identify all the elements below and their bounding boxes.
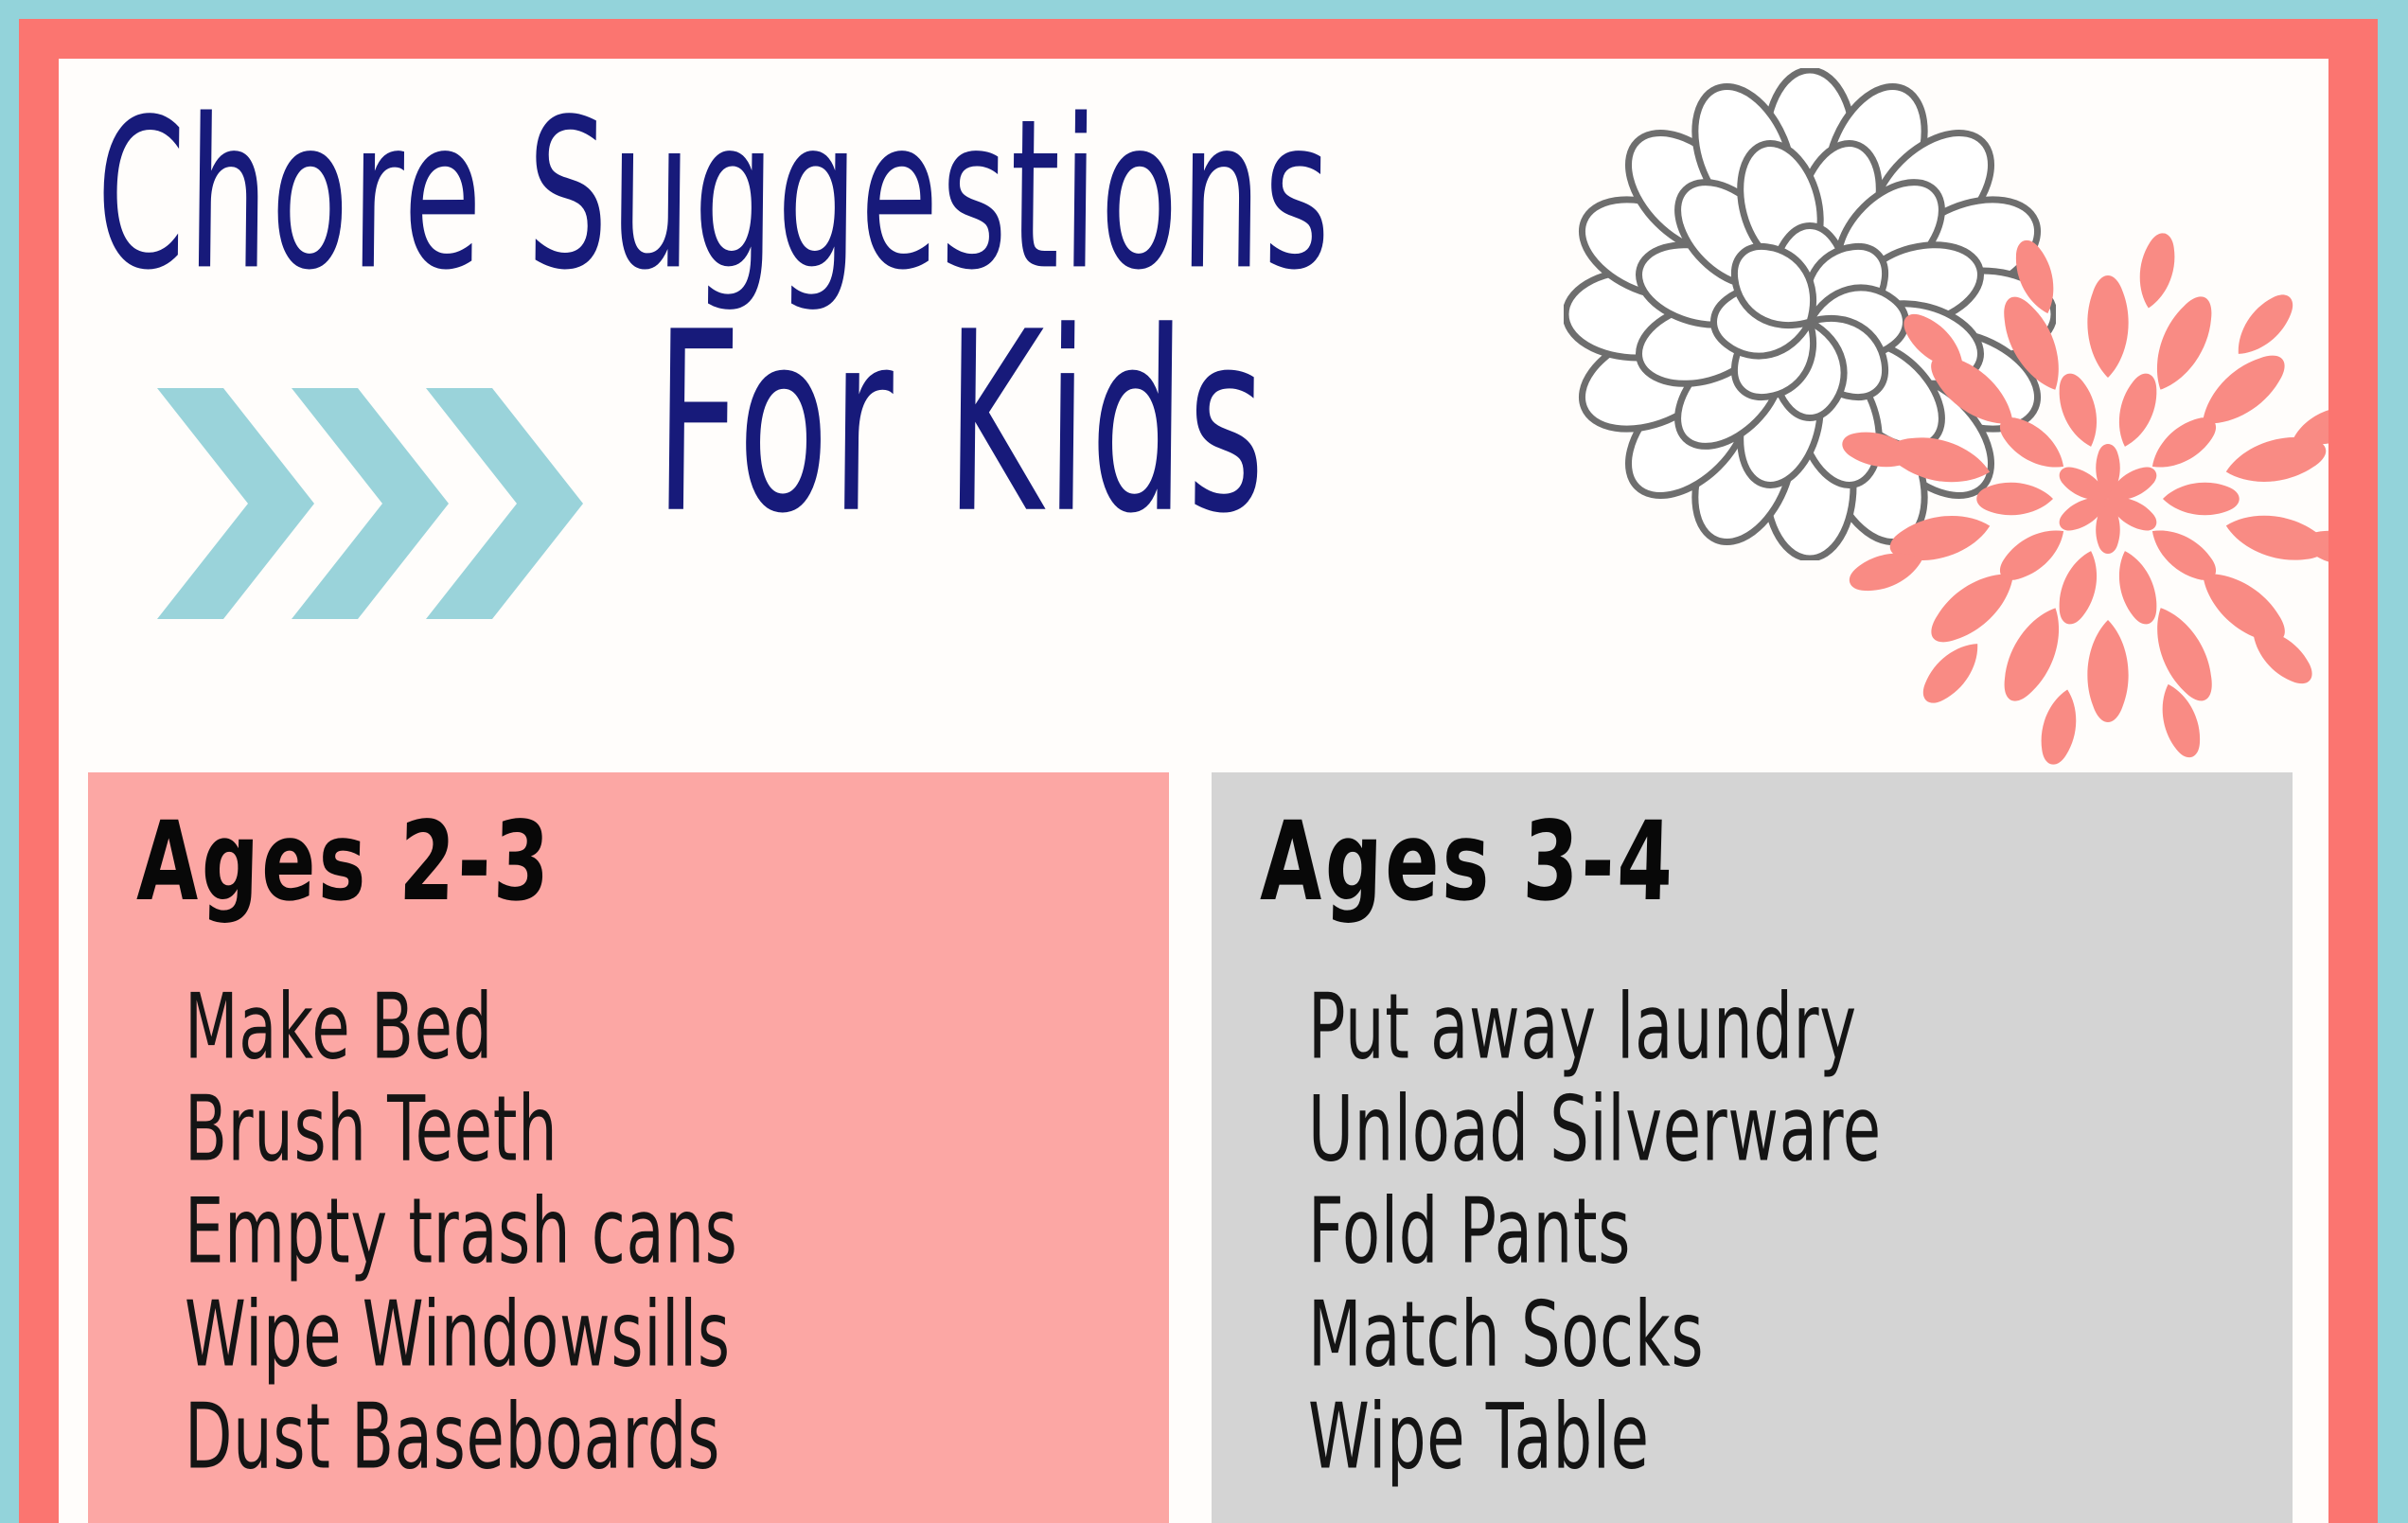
list-item: Empty trash cans <box>185 1174 972 1293</box>
list-item: Brush Teeth <box>185 1071 972 1191</box>
list-item: Match Socks <box>1308 1276 2096 1395</box>
poster-page: Chore Suggestions For Kids <box>59 59 2328 1523</box>
title-line-chore-suggestions: Chore Suggestions <box>96 92 1334 298</box>
panel-ages-2-3: Ages 2-3 Make Bed Brush Teeth Empty tras… <box>88 772 1169 1523</box>
chore-poster: Chore Suggestions For Kids <box>0 0 2408 1523</box>
panel-title-ages-2-3: Ages 2-3 <box>136 807 1026 917</box>
list-item: Put away laundry <box>1308 968 2096 1088</box>
panel-title-ages-3-4: Ages 3-4 <box>1260 807 2150 917</box>
coral-border-frame: Chore Suggestions For Kids <box>19 19 2378 1523</box>
chore-list-ages-2-3: Make Bed Brush Teeth Empty trash cans Wi… <box>137 977 1169 1489</box>
chore-list-ages-3-4: Put away laundry Unload Silverware Fold … <box>1261 977 2293 1489</box>
title-line-for-kids: For Kids <box>654 300 1269 549</box>
triple-chevron-right-icon <box>153 381 589 627</box>
list-item: Fold Pants <box>1308 1174 2096 1293</box>
poster-header: Chore Suggestions For Kids <box>59 59 2328 759</box>
list-item: Wipe Windowsills <box>185 1276 972 1395</box>
list-item: Wipe Table <box>1308 1378 2096 1497</box>
list-item: Unload Silverware <box>1308 1071 2096 1191</box>
panel-ages-3-4: Ages 3-4 Put away laundry Unload Silverw… <box>1212 772 2293 1523</box>
list-item: Make Bed <box>185 968 972 1088</box>
petal-burst-flower-icon <box>1805 196 2328 802</box>
age-panels: Ages 2-3 Make Bed Brush Teeth Empty tras… <box>88 772 2293 1523</box>
list-item: Dust Baseboards <box>185 1378 972 1497</box>
